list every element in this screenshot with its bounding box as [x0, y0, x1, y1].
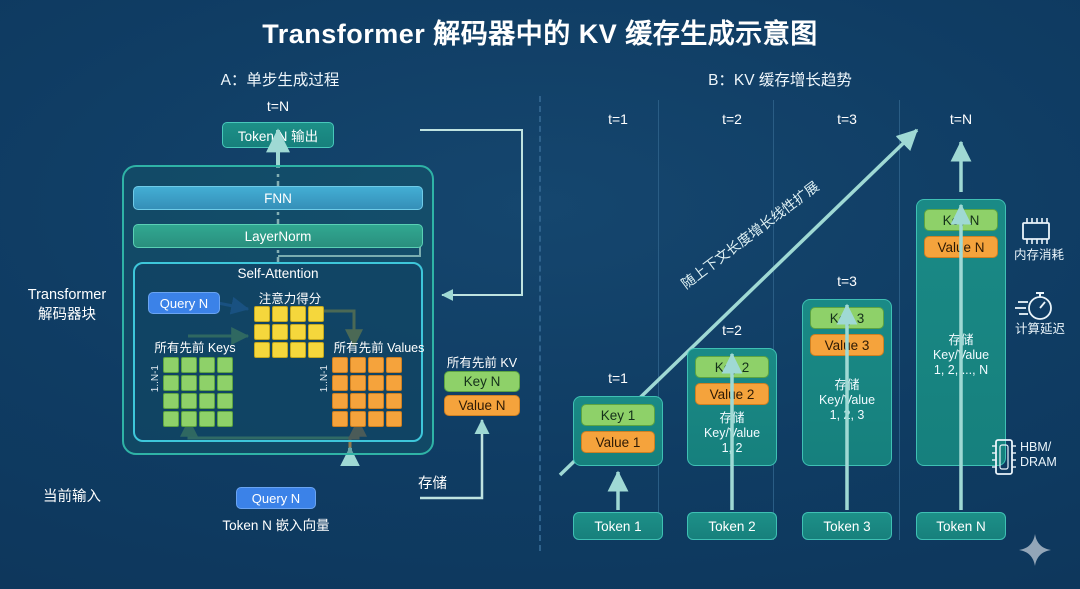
- timeline-header-3: t=3: [802, 111, 892, 127]
- column-separator-2: [773, 100, 774, 540]
- cache-key-chip-1[interactable]: Key 1: [581, 404, 655, 426]
- grid-cell: [386, 411, 402, 427]
- grid-cell: [199, 411, 215, 427]
- grid-cell: [350, 375, 366, 391]
- keys-label: 所有先前 Keys: [140, 337, 250, 356]
- grid-cell: [163, 411, 179, 427]
- grid-cell: [181, 393, 197, 409]
- column-1-step-label: t=1: [573, 370, 663, 386]
- memory-usage-label: 内存消耗: [1004, 248, 1074, 263]
- cache-column-1[interactable]: Key 1 Value 1: [573, 396, 663, 466]
- grid-cell: [254, 342, 270, 358]
- grid-cell: [290, 324, 306, 340]
- grid-cell: [368, 393, 384, 409]
- grid-cell: [350, 393, 366, 409]
- grid-cell: [199, 393, 215, 409]
- grid-cell: [332, 357, 348, 373]
- token-box-3[interactable]: Token 3: [802, 512, 892, 540]
- right-panel-heading: B：KV 缓存增长趋势: [620, 68, 940, 90]
- column-separator-3: [899, 100, 900, 540]
- grid-cell: [199, 375, 215, 391]
- cache-key-chip-4[interactable]: Key N: [924, 209, 998, 231]
- cache-caption-4: 存储 Key/Value 1, 2, ..., N: [917, 333, 1005, 378]
- cache-caption-2: 存储 Key/Value 1, 2: [688, 411, 776, 456]
- layernorm-layer[interactable]: LayerNorm: [133, 224, 423, 248]
- previous-kv-label: 所有先前 KV: [432, 352, 532, 371]
- panel-divider: [539, 96, 541, 551]
- grid-cell: [217, 357, 233, 373]
- decoder-block-label-line2: 解码器块: [38, 307, 96, 323]
- compute-latency-label: 计算延迟: [1004, 322, 1076, 337]
- attention-score-label: 注意力得分: [236, 288, 344, 307]
- cache-value-chip-3[interactable]: Value 3: [810, 334, 884, 356]
- grid-cell: [386, 393, 402, 409]
- grid-cell: [290, 306, 306, 322]
- query-input-chip[interactable]: Query N: [236, 487, 316, 509]
- grid-cell: [332, 411, 348, 427]
- grid-cell: [217, 393, 233, 409]
- grid-cell: [163, 357, 179, 373]
- cache-value-chip-2[interactable]: Value 2: [695, 383, 769, 405]
- values-range-label: 1..N-1: [319, 365, 330, 392]
- cache-key-chip-2[interactable]: Key 2: [695, 356, 769, 378]
- grid-cell: [290, 342, 306, 358]
- grid-cell: [181, 357, 197, 373]
- cache-caption-3: 存储 Key/Value 1, 2, 3: [803, 378, 891, 423]
- query-chip[interactable]: Query N: [148, 292, 220, 314]
- grid-cell: [332, 375, 348, 391]
- hbm-dram-label: HBM/ DRAM: [1020, 440, 1078, 470]
- token-box-1[interactable]: Token 1: [573, 512, 663, 540]
- grid-cell: [254, 324, 270, 340]
- store-label: 存储: [418, 472, 447, 493]
- grid-cell: [272, 306, 288, 322]
- token-embedding-caption: Token N 嵌入向量: [196, 514, 356, 534]
- kv-routing-arrows: [420, 120, 550, 500]
- grid-cell: [199, 357, 215, 373]
- grid-cell: [368, 411, 384, 427]
- timeline-header-2: t=2: [687, 111, 777, 127]
- token-box-4[interactable]: Token N: [916, 512, 1006, 540]
- grid-cell: [163, 375, 179, 391]
- cache-value-chip-4[interactable]: Value N: [924, 236, 998, 258]
- grid-cell: [350, 357, 366, 373]
- value-n-chip[interactable]: Value N: [444, 395, 520, 416]
- grid-cell: [368, 375, 384, 391]
- cache-column-3[interactable]: Key 3 Value 3 存储 Key/Value 1, 2, 3: [802, 299, 892, 466]
- timeline-header-1: t=1: [573, 111, 663, 127]
- grid-cell: [368, 357, 384, 373]
- grid-cell: [308, 306, 324, 322]
- values-label: 所有先前 Values: [320, 337, 438, 356]
- cache-value-chip-1[interactable]: Value 1: [581, 431, 655, 453]
- attention-score-grid: [254, 306, 324, 358]
- dram-chip-icon: [990, 437, 1018, 482]
- grid-cell: [254, 306, 270, 322]
- grid-cell: [350, 411, 366, 427]
- decoder-block-label-line1: Transformer: [28, 287, 106, 303]
- timeline-header-4: t=N: [916, 111, 1006, 127]
- current-input-label: 当前输入: [22, 485, 122, 506]
- keys-range-label: 1..N-1: [150, 365, 161, 392]
- grid-cell: [217, 411, 233, 427]
- grid-cell: [272, 324, 288, 340]
- grid-cell: [181, 375, 197, 391]
- keys-matrix: [163, 357, 233, 427]
- cache-column-2[interactable]: Key 2 Value 2 存储 Key/Value 1, 2: [687, 348, 777, 466]
- grid-cell: [332, 393, 348, 409]
- left-panel-heading: A：单步生成过程: [120, 68, 440, 90]
- diagram-canvas: Transformer 解码器中的 KV 缓存生成示意图 A：单步生成过程 B：…: [0, 0, 1080, 589]
- column-separator-1: [658, 100, 659, 540]
- token-box-2[interactable]: Token 2: [687, 512, 777, 540]
- sparkle-icon: [1018, 533, 1052, 567]
- grid-cell: [386, 375, 402, 391]
- self-attention-title: Self-Attention: [133, 266, 423, 281]
- grid-cell: [163, 393, 179, 409]
- token-output-box[interactable]: Token N 输出: [222, 122, 334, 148]
- cache-key-chip-3[interactable]: Key 3: [810, 307, 884, 329]
- grid-cell: [272, 342, 288, 358]
- cache-column-4[interactable]: Key N Value N 存储 Key/Value 1, 2, ..., N: [916, 199, 1006, 466]
- values-matrix: [332, 357, 402, 427]
- grid-cell: [386, 357, 402, 373]
- left-step-label: t=N: [228, 98, 328, 114]
- page-title: Transformer 解码器中的 KV 缓存生成示意图: [0, 12, 1080, 51]
- grid-cell: [217, 375, 233, 391]
- column-3-step-label: t=3: [802, 273, 892, 289]
- fnn-layer[interactable]: FNN: [133, 186, 423, 210]
- key-n-chip[interactable]: Key N: [444, 371, 520, 392]
- grid-cell: [181, 411, 197, 427]
- column-2-step-label: t=2: [687, 322, 777, 338]
- decoder-block-label: Transformer 解码器块: [12, 285, 122, 325]
- memory-chip-icon: [1016, 216, 1056, 251]
